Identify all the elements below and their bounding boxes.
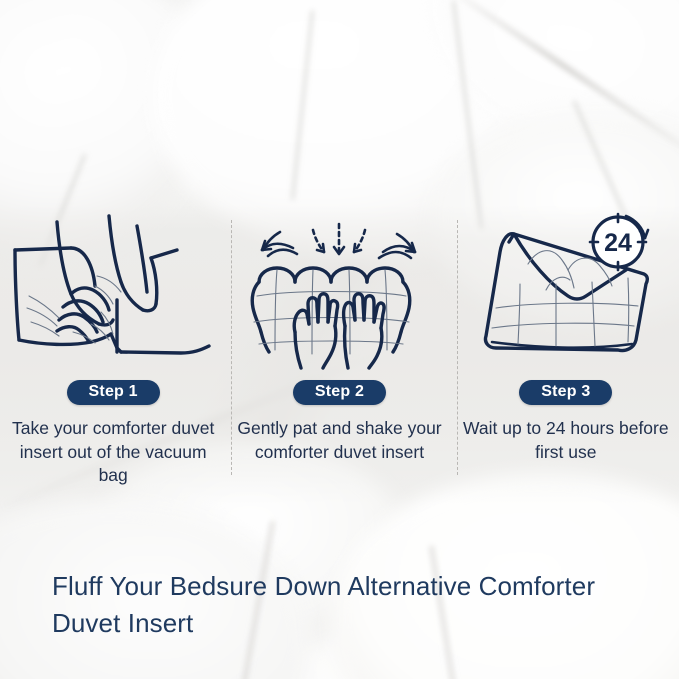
comforter-with-24-hour-timer-icon: 24 xyxy=(476,212,656,372)
hands-pulling-comforter-out-of-bag-icon xyxy=(13,212,213,372)
step-description-1: Take your comforter duvet insert out of … xyxy=(10,417,216,488)
step-description-2: Gently pat and shake your comforter duve… xyxy=(236,417,442,464)
arrow-dashed-inward-icon xyxy=(313,224,365,254)
step-2-illustration xyxy=(251,212,427,372)
arrow-right-outward-icon xyxy=(379,234,415,258)
step-3-illustration: 24 xyxy=(476,212,656,372)
arrow-left-outward-icon xyxy=(262,232,297,256)
timer-value: 24 xyxy=(604,229,632,257)
infographic-page: Step 1 Take your comforter duvet insert … xyxy=(0,0,679,679)
step-column-1: Step 1 Take your comforter duvet insert … xyxy=(0,212,226,488)
step-column-2: Step 2 Gently pat and shake your comfort… xyxy=(226,212,452,488)
page-title: Fluff Your Bedsure Down Alternative Comf… xyxy=(52,568,664,642)
hands-patting-comforter-with-arrows-icon xyxy=(251,212,427,372)
step-1-illustration xyxy=(13,212,213,372)
step-badge-3: Step 3 xyxy=(519,380,612,405)
steps-row: Step 1 Take your comforter duvet insert … xyxy=(0,212,679,488)
step-column-3: 24 Step 3 Wait up to 24 hours before fir… xyxy=(453,212,679,488)
step-badge-2: Step 2 xyxy=(293,380,386,405)
step-description-3: Wait up to 24 hours before first use xyxy=(463,417,669,464)
step-badge-1: Step 1 xyxy=(67,380,160,405)
